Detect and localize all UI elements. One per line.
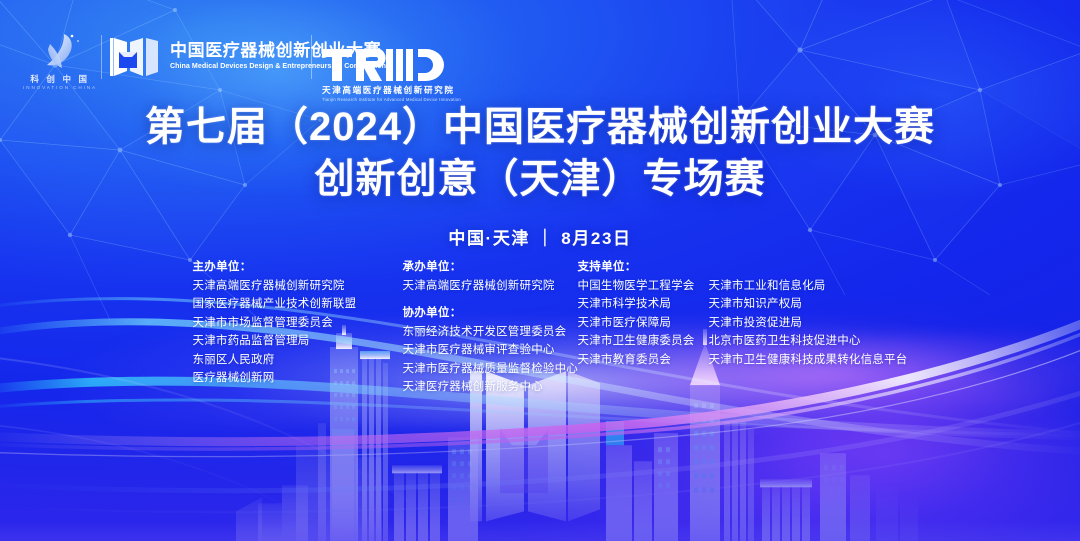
hosts-item: 东丽区人民政府 — [193, 355, 403, 367]
kechuang-cn-label: 科 创 中 国 — [30, 75, 89, 84]
undertakers-heading: 承办单位： — [403, 262, 578, 274]
undertakers-item: 天津高端医疗器械创新研究院 — [403, 281, 578, 293]
kechuang-en-label: INNOVATION CHINA — [23, 86, 97, 91]
hosts-item: 国家医疗器械产业技术创新联盟 — [193, 299, 403, 311]
supporters-item: 天津市工业和信息化局 — [709, 281, 908, 293]
coorganizers-item: 天津市医疗器械审评查验中心 — [403, 345, 578, 357]
kechuang-bird-icon — [34, 32, 86, 72]
title-line-1: 第七届（2024）中国医疗器械创新创业大赛 — [0, 104, 1080, 150]
trmd-en-label: Tianjin Research Institute for Advanced … — [322, 98, 461, 102]
hosts-item: 天津高端医疗器械创新研究院 — [193, 281, 403, 293]
logo-bar: 科 创 中 国 INNOVATION CHINA — [0, 22, 1080, 94]
undertakers-column: 承办单位： 天津高端医疗器械创新研究院 协办单位： 东丽经济技术开发区管理委员会… — [403, 262, 578, 401]
supporters-column: 支持单位： 中国生物医学工程学会 天津市工业和信息化局 天津市科学技术局 天津市… — [578, 262, 888, 401]
logo-divider-2 — [311, 35, 312, 79]
supporters-item: 天津市知识产权局 — [709, 299, 908, 311]
supporters-item: 天津市教育委员会 — [578, 355, 701, 367]
supporters-item: 天津市投资促进局 — [709, 318, 908, 330]
hosts-heading: 主办单位： — [193, 262, 403, 274]
trmd-wordmark-icon — [322, 48, 444, 82]
hosts-column: 主办单位： 天津高端医疗器械创新研究院 国家医疗器械产业技术创新联盟 天津市市场… — [193, 262, 403, 401]
supporters-item: 天津市卫生健康委员会 — [578, 336, 701, 348]
coorganizers-heading: 协办单位： — [403, 308, 578, 320]
supporters-item: 北京市医药卫生科技促进中心 — [709, 336, 908, 348]
coorganizers-item: 天津医疗器械创新服务中心 — [403, 382, 578, 394]
organizer-block: 主办单位： 天津高端医疗器械创新研究院 国家医疗器械产业技术创新联盟 天津市市场… — [0, 262, 1080, 401]
coorganizers-item: 东丽经济技术开发区管理委员会 — [403, 327, 578, 339]
supporters-item: 中国生物医学工程学会 — [578, 281, 701, 293]
title-block: 第七届（2024）中国医疗器械创新创业大赛 创新创意（天津）专场赛 — [0, 104, 1080, 203]
event-banner-poster: 科 创 中 国 INNOVATION CHINA — [0, 0, 1080, 541]
coorganizers-item: 天津市医疗器械质量监督检验中心 — [403, 364, 578, 376]
supporters-heading: 支持单位： — [578, 262, 888, 274]
hosts-item: 天津市药品监督管理局 — [193, 336, 403, 348]
hosts-item: 医疗器械创新网 — [193, 373, 403, 385]
supporters-item: 天津市医疗保障局 — [578, 318, 701, 330]
trmd-logo: 天津高端医疗器械创新研究院 Tianjin Research Institute… — [322, 48, 461, 102]
title-line-2: 创新创意（天津）专场赛 — [0, 156, 1080, 202]
dateline: 中国·天津 ｜ 8月23日 — [0, 224, 1080, 249]
supporters-item: 天津市科学技术局 — [578, 299, 701, 311]
logo-divider-1 — [101, 35, 102, 79]
hosts-item: 天津市市场监督管理委员会 — [193, 318, 403, 330]
trmd-cn-label: 天津高端医疗器械创新研究院 — [322, 86, 455, 95]
supporters-item: 天津市卫生健康科技成果转化信息平台 — [709, 355, 908, 367]
kechuang-zhongguo-logo: 科 创 中 国 INNOVATION CHINA — [24, 25, 96, 91]
competition-emblem-icon — [110, 30, 162, 82]
